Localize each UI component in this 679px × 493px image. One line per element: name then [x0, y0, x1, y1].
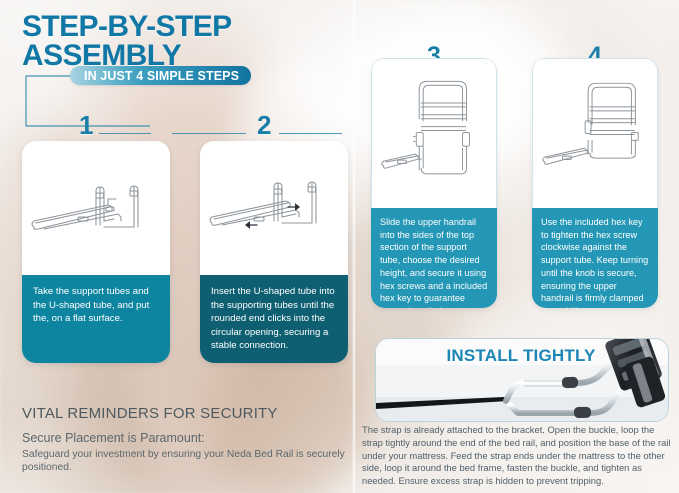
page-title: STEP-BY-STEP ASSEMBLY — [22, 12, 352, 71]
step-3-text: Slide the upper handrail into the sides … — [371, 208, 497, 308]
rule-divider — [99, 133, 151, 134]
bed-rail-tubes-separate-icon — [22, 141, 170, 275]
infographic-root: STEP-BY-STEP ASSEMBLY IN JUST 4 SIMPLE S… — [0, 0, 679, 493]
rule-divider — [279, 133, 342, 134]
subtitle-badge-label: IN JUST 4 SIMPLE STEPS — [84, 69, 239, 83]
rule-divider — [172, 133, 246, 134]
install-tightly-text: The strap is already attached to the bra… — [362, 424, 674, 488]
step-card-1: Take the support tubes and the U-shaped … — [22, 141, 170, 363]
step-1-text: Take the support tubes and the U-shaped … — [22, 275, 170, 363]
vital-reminders-title: VITAL REMINDERS FOR SECURITY — [22, 405, 352, 422]
vital-reminders-subtitle: Secure Placement is Paramount: — [22, 431, 352, 446]
subtitle-badge: IN JUST 4 SIMPLE STEPS — [70, 66, 251, 85]
bed-rail-handrail-tightened-icon — [533, 59, 657, 208]
install-tightly-title: INSTALL TIGHTLY — [375, 346, 667, 366]
step-3-illustration — [371, 58, 497, 208]
panel-divider — [352, 0, 356, 493]
step-card-3: Slide the upper handrail into the sides … — [371, 58, 497, 308]
vital-reminders-section: VITAL REMINDERS FOR SECURITY Secure Plac… — [22, 405, 352, 475]
step-4-text: Use the included hex key to tighten the … — [532, 208, 658, 308]
step-card-4: Use the included hex key to tighten the … — [532, 58, 658, 308]
step-4-illustration — [532, 58, 658, 208]
step-1-illustration — [22, 141, 170, 275]
step-2-illustration — [200, 141, 348, 275]
step-number-2: 2 — [257, 112, 271, 138]
bed-rail-handrail-raised-icon — [372, 59, 496, 208]
vital-reminders-body: Safeguard your investment by ensuring yo… — [22, 448, 352, 475]
step-number-1: 1 — [79, 112, 93, 138]
step-card-2: Insert the U-shaped tube into the suppor… — [200, 141, 348, 363]
title-line-1: STEP-BY-STEP — [22, 10, 232, 43]
bed-rail-tubes-joined-icon — [200, 141, 348, 275]
step-2-text: Insert the U-shaped tube into the suppor… — [200, 275, 348, 363]
